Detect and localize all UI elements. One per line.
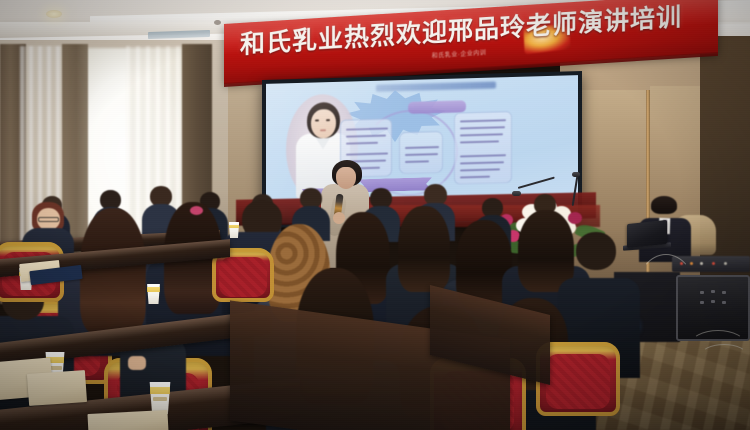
- audience-hand: [128, 356, 146, 370]
- av-cable: [636, 254, 696, 330]
- eyeglasses-icon: [38, 217, 59, 222]
- conference-room-photo: 和氏乳业热烈欢迎邢品玲老师演讲培训 和氏乳业·企业内训: [0, 0, 750, 430]
- notepad[interactable]: [27, 370, 87, 406]
- technician-face: [655, 202, 674, 221]
- notepad[interactable]: [87, 410, 168, 430]
- av-cable: [700, 344, 748, 368]
- paper-cup[interactable]: [228, 222, 240, 238]
- hair-tie-icon: [190, 206, 203, 215]
- paper-cup[interactable]: [148, 382, 172, 414]
- ceiling-speaker-icon: [214, 20, 221, 25]
- paper-cup[interactable]: [146, 284, 161, 304]
- microphone-head: [572, 172, 580, 177]
- downlight-icon: [46, 10, 62, 18]
